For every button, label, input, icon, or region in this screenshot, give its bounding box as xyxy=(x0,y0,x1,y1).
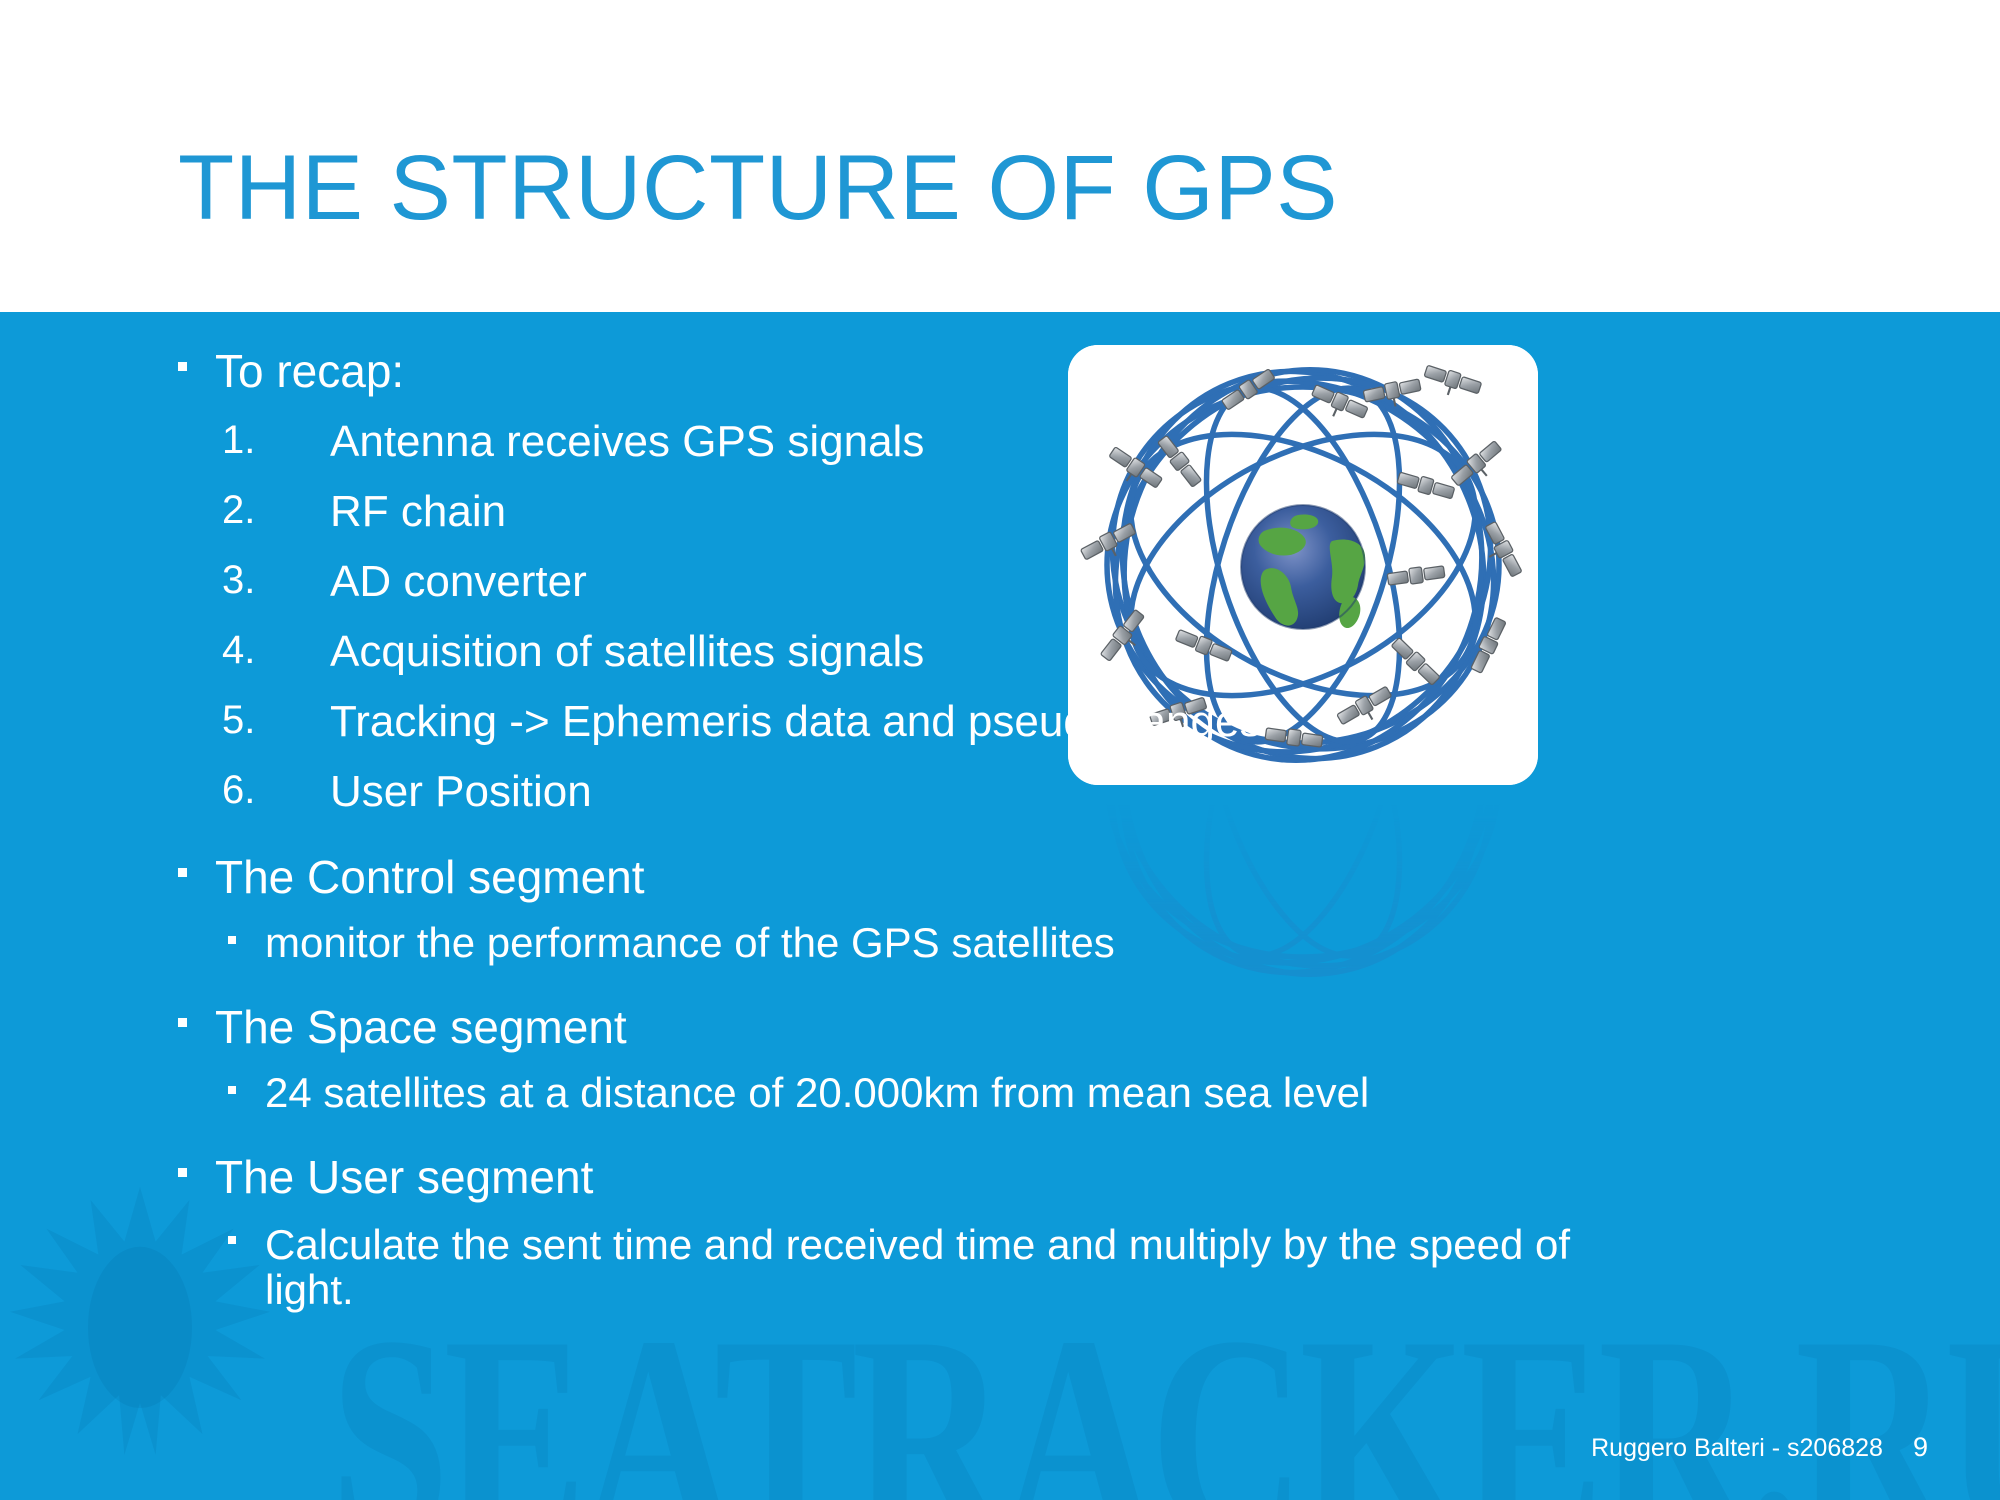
list-item: 4. Acquisition of satellites signals xyxy=(0,630,1400,674)
list-item: 5. Tracking -> Ephemeris data and pseudo… xyxy=(0,700,1400,744)
step-label: RF chain xyxy=(330,487,506,536)
step-label: Antenna receives GPS signals xyxy=(330,417,924,466)
control-segment-detail-label: monitor the performance of the GPS satel… xyxy=(265,919,1115,966)
step-number: 3. xyxy=(222,560,312,600)
user-segment-label: The User segment xyxy=(215,1151,593,1203)
bullet-marker-icon xyxy=(228,936,236,944)
list-item: 3. AD converter xyxy=(0,560,1400,604)
list-item: 6. User Position xyxy=(0,770,1400,814)
step-number: 5. xyxy=(222,700,312,740)
list-item: 2. RF chain xyxy=(0,490,1400,534)
bullet-marker-icon xyxy=(178,1168,187,1177)
slide-body-content: To recap: 1. Antenna receives GPS signal… xyxy=(0,312,1400,1313)
title-band: THE STRUCTURE OF GPS xyxy=(0,0,2000,312)
footer-author: Ruggero Balteri - s206828 xyxy=(1591,1434,1883,1463)
space-segment-detail-label: 24 satellites at a distance of 20.000km … xyxy=(265,1069,1369,1116)
bullet-to-recap-label: To recap: xyxy=(215,345,404,397)
step-number: 4. xyxy=(222,630,312,670)
step-label: AD converter xyxy=(330,557,587,606)
bullet-marker-icon xyxy=(178,868,187,877)
bullet-space-segment: The Space segment xyxy=(0,1004,1400,1050)
bullet-to-recap: To recap: xyxy=(0,348,1400,394)
bullet-marker-icon xyxy=(178,362,187,371)
bullet-user-segment: The User segment xyxy=(0,1154,1400,1200)
step-label: User Position xyxy=(330,767,592,816)
step-number: 6. xyxy=(222,770,312,810)
space-segment-detail: 24 satellites at a distance of 20.000km … xyxy=(0,1072,1400,1114)
step-label: Acquisition of satellites signals xyxy=(330,627,924,676)
page-title: THE STRUCTURE OF GPS xyxy=(178,142,1338,234)
step-label: Tracking -> Ephemeris data and pseudo-ra… xyxy=(330,697,1261,746)
page-number: 9 xyxy=(1913,1432,1928,1463)
control-segment-label: The Control segment xyxy=(215,851,645,903)
recap-steps-list: 1. Antenna receives GPS signals 2. RF ch… xyxy=(0,420,1400,814)
control-segment-detail: monitor the performance of the GPS satel… xyxy=(0,922,1400,964)
step-number: 1. xyxy=(222,420,312,460)
user-segment-detail: Calculate the sent time and received tim… xyxy=(0,1222,1605,1313)
space-segment-label: The Space segment xyxy=(215,1001,627,1053)
slide-footer: Ruggero Balteri - s206828 9 xyxy=(1591,1432,1928,1463)
bullet-control-segment: The Control segment xyxy=(0,854,1400,900)
step-number: 2. xyxy=(222,490,312,530)
bullet-marker-icon xyxy=(228,1086,236,1094)
bullet-marker-icon xyxy=(228,1236,236,1244)
list-item: 1. Antenna receives GPS signals xyxy=(0,420,1400,464)
bullet-marker-icon xyxy=(178,1018,187,1027)
user-segment-detail-label: Calculate the sent time and received tim… xyxy=(265,1221,1570,1313)
slide: SEATRACKER.RU THE STRUCTURE OF GPS xyxy=(0,0,2000,1500)
